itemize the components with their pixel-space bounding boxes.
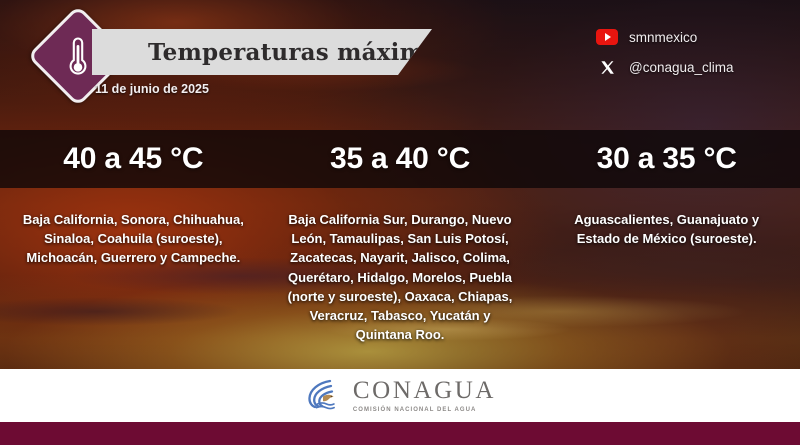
- temperature-column-2: 35 a 40 °C Baja California Sur, Durango,…: [267, 130, 534, 345]
- footer: CONAGUA COMISIÓN NACIONAL DEL AGUA: [0, 369, 800, 422]
- play-triangle-icon: [605, 33, 611, 41]
- social-item-twitter-x[interactable]: @conagua_clima: [596, 54, 776, 80]
- logo-name: CONAGUA: [353, 378, 496, 403]
- social-links: smnmexico @conagua_clima: [596, 24, 776, 80]
- weather-infographic: Temperaturas máximas 11 de junio de 2025…: [0, 0, 800, 445]
- footer-accent-bar: [0, 422, 800, 445]
- forecast-date: 11 de junio de 2025: [95, 82, 209, 96]
- conagua-logo: CONAGUA COMISIÓN NACIONAL DEL AGUA: [304, 377, 496, 415]
- twitter-x-handle: @conagua_clima: [629, 60, 734, 75]
- temperature-range-label: 40 a 45 °C: [10, 130, 257, 188]
- x-logo-icon[interactable]: [596, 58, 618, 76]
- logo-subtitle: COMISIÓN NACIONAL DEL AGUA: [353, 407, 496, 413]
- title-ribbon: Temperaturas máximas: [92, 29, 432, 75]
- temperature-range-label: 35 a 40 °C: [277, 130, 524, 188]
- header: Temperaturas máximas 11 de junio de 2025…: [0, 0, 800, 120]
- states-list: Baja California, Sonora, Chihuahua, Sina…: [10, 210, 257, 268]
- youtube-icon[interactable]: [596, 29, 618, 45]
- logo-wordmark: CONAGUA COMISIÓN NACIONAL DEL AGUA: [353, 378, 496, 413]
- temperature-column-3: 30 a 35 °C Aguascalientes, Guanajuato y …: [533, 130, 800, 345]
- temperature-range-label: 30 a 35 °C: [543, 130, 790, 188]
- temperature-columns: 40 a 45 °C Baja California, Sonora, Chih…: [0, 130, 800, 345]
- page-title: Temperaturas máximas: [148, 39, 452, 66]
- social-item-youtube[interactable]: smnmexico: [596, 24, 776, 50]
- states-list: Baja California Sur, Durango, Nuevo León…: [277, 210, 524, 345]
- states-list: Aguascalientes, Guanajuato y Estado de M…: [543, 210, 790, 248]
- conagua-eagle-water-logo-icon: [304, 377, 344, 415]
- temperature-column-1: 40 a 45 °C Baja California, Sonora, Chih…: [0, 130, 267, 345]
- youtube-handle: smnmexico: [629, 30, 697, 45]
